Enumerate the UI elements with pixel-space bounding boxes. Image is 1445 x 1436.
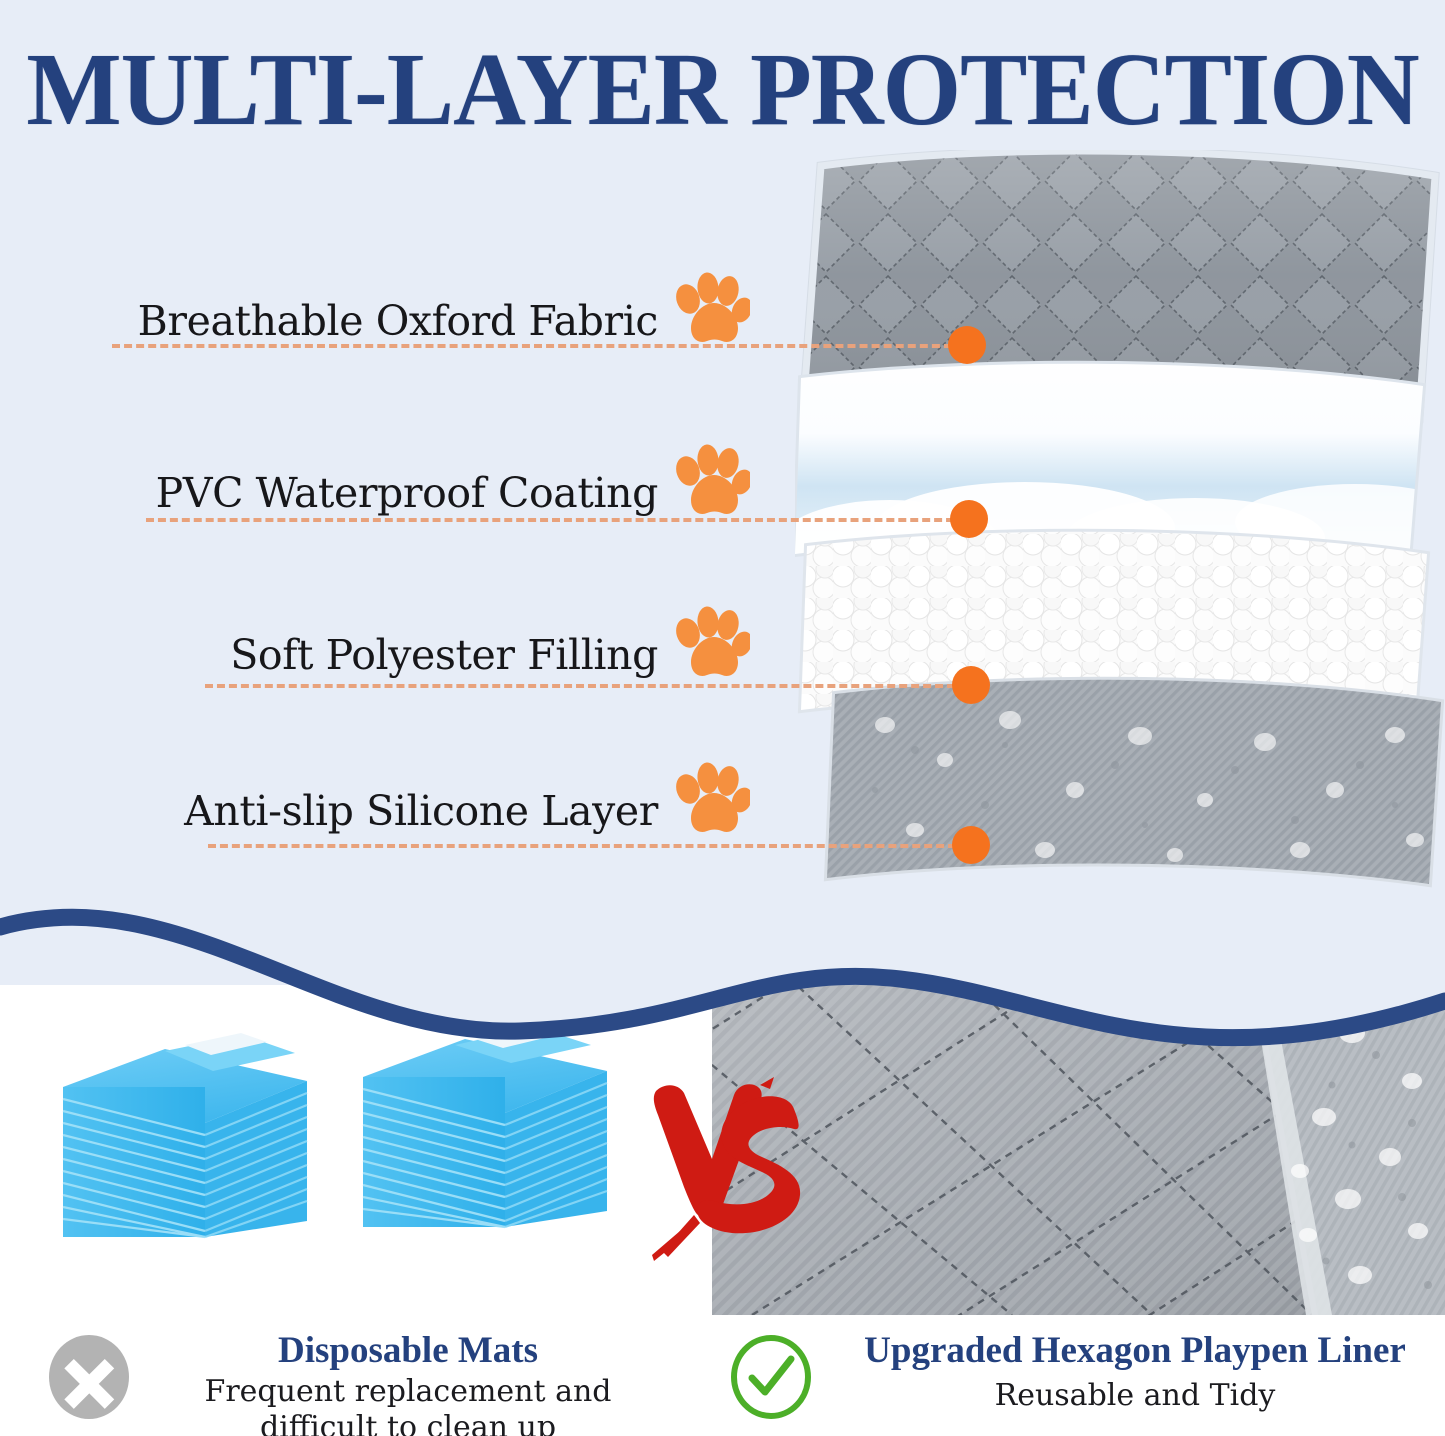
- feature-label: Soft Polyester Filling: [230, 632, 658, 678]
- connector-dot-3: [952, 666, 990, 704]
- comparison-subtitle-left-line1: Frequent replacement and: [168, 1374, 648, 1410]
- vs-badge: [648, 1075, 808, 1265]
- paw-icon: [672, 606, 750, 684]
- feature-label: Anti-slip Silicone Layer: [184, 788, 658, 834]
- connector-line-2: [146, 518, 966, 522]
- comparison-title-right: Upgraded Hexagon Playpen Liner: [840, 1330, 1430, 1372]
- x-mark-icon: [48, 1334, 130, 1420]
- connector-dot-1: [948, 326, 986, 364]
- silicone-layer: [815, 665, 1445, 895]
- connector-line-1: [112, 344, 964, 348]
- page-title: MULTI-LAYER PROTECTION: [22, 34, 1424, 146]
- paw-icon: [672, 762, 750, 840]
- wave-divider: [0, 905, 1445, 1095]
- connector-dot-2: [950, 500, 988, 538]
- feature-row-3: Soft Polyester Filling: [130, 596, 750, 706]
- feature-row-2: PVC Waterproof Coating: [90, 434, 750, 544]
- feature-row-1: Breathable Oxford Fabric: [90, 262, 750, 372]
- paw-icon: [672, 272, 750, 350]
- connector-dot-4: [952, 826, 990, 864]
- connector-line-3: [205, 684, 967, 688]
- comparison-title-left: Disposable Mats: [198, 1330, 618, 1372]
- feature-label: PVC Waterproof Coating: [156, 470, 658, 516]
- connector-line-4: [208, 844, 968, 848]
- infographic-canvas: MULTI-LAYER PROTECTION: [0, 0, 1445, 1436]
- layer-illustration: [795, 150, 1445, 960]
- comparison-subtitle-right-line1: Reusable and Tidy: [840, 1378, 1430, 1414]
- check-mark-icon: [730, 1334, 812, 1420]
- comparison-subtitle-left-line2: difficult to clean up: [168, 1410, 648, 1436]
- paw-icon: [672, 444, 750, 522]
- comparison-caption-right: Upgraded Hexagon Playpen Liner Reusable …: [730, 1330, 1430, 1436]
- comparison-caption-left: Disposable Mats Frequent replacement and…: [48, 1330, 668, 1436]
- feature-label: Breathable Oxford Fabric: [138, 298, 658, 344]
